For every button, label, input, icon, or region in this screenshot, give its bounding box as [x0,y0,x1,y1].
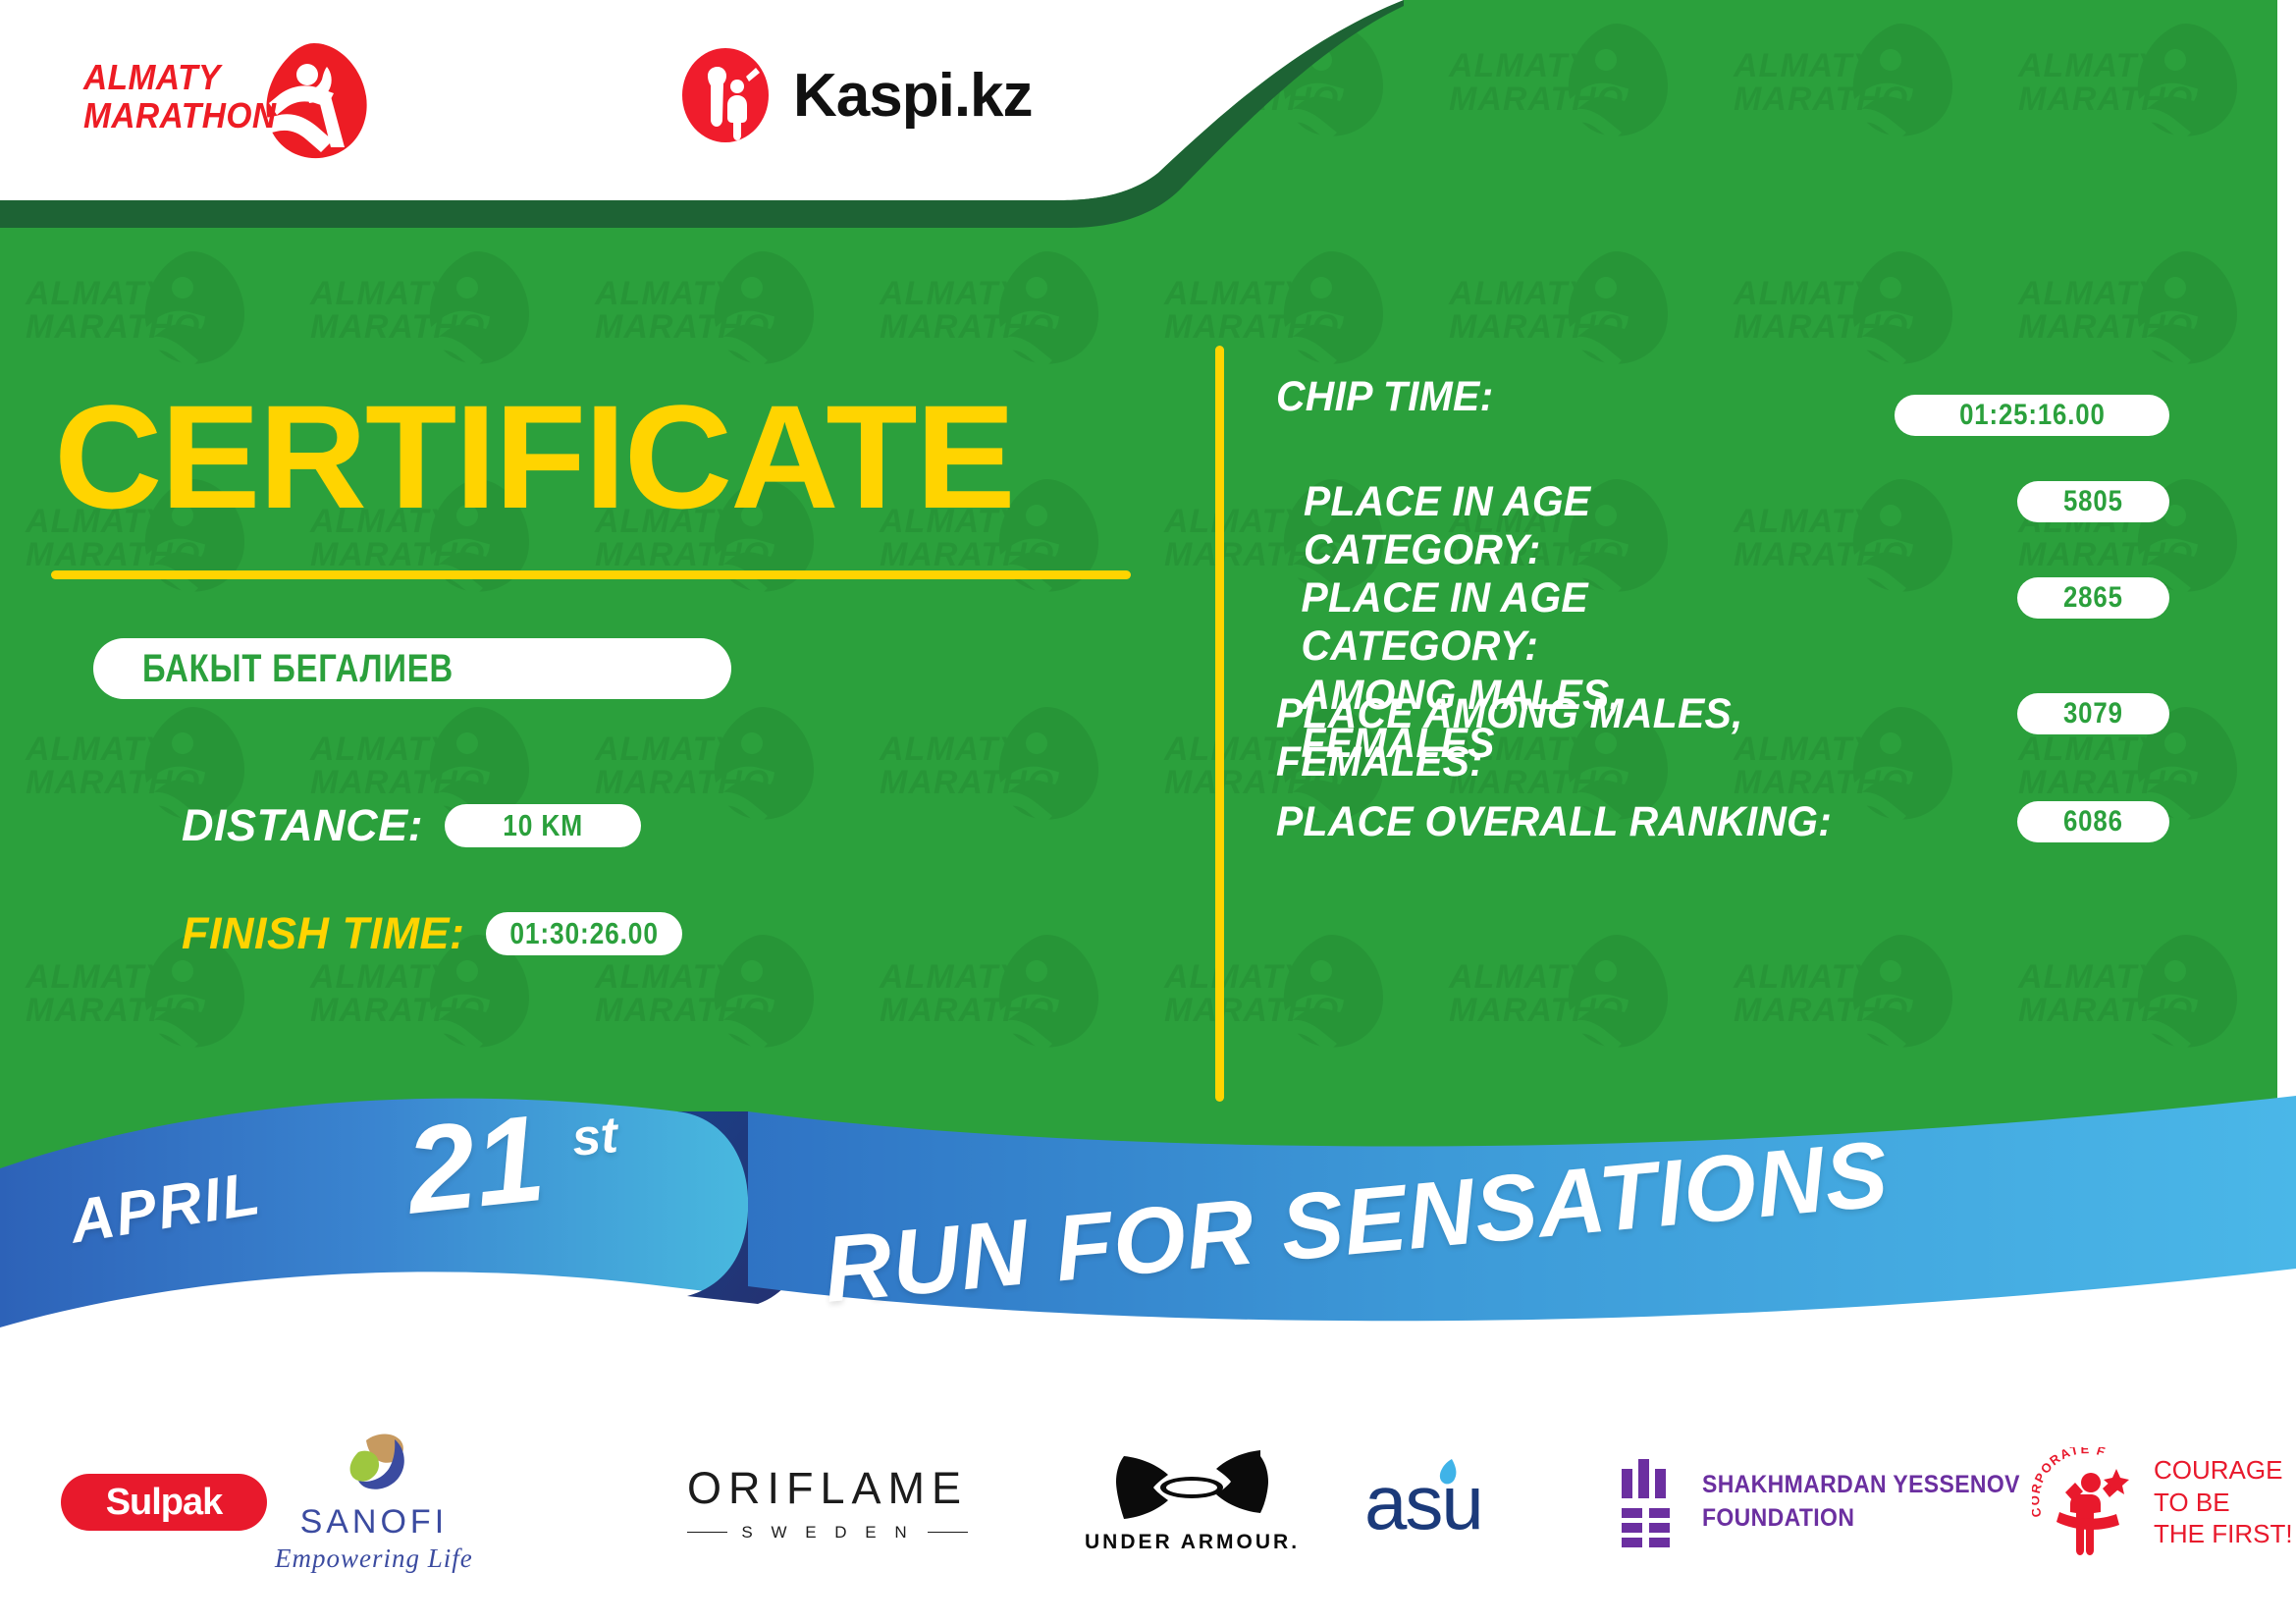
place-overall-ranking-label: PLACE OVERALL RANKING: [1276,798,1832,846]
corporate-fund-tagline: COURAGE TO BE THE FIRST! [2154,1454,2293,1550]
chip-time-label: CHIP TIME: [1276,373,1493,421]
under-armour-icon [1116,1450,1268,1525]
sanofi-wordmark: SANOFI [300,1503,449,1542]
vertical-divider [1215,346,1224,1102]
corporate-fund-logo: CORPORATE FUND COURAGE TO BE THE FIRST! [2032,1447,2293,1557]
place-age-category-label: PLACE IN AGE CATEGORY: [1304,478,1826,575]
finish-time-row: FINISH TIME: 01:30:26.00 [182,908,682,959]
place-age-category-pill: 5805 [2017,481,2169,522]
place-age-category-among-pill: 2865 [2017,577,2169,619]
sanofi-tagline: Empowering Life [275,1543,473,1574]
place-overall-ranking-value: 6086 [2063,805,2123,839]
stats-panel: CHIP TIME: 01:25:16.00 PLACE IN AGE CATE… [1276,373,2277,1119]
yessenov-mark-icon [1620,1457,1677,1547]
sponsor-sulpak: Sulpak [61,1404,267,1600]
sponsor-asu: asu [1364,1404,1482,1600]
oriflame-rule-left [687,1532,727,1533]
event-ribbon: APRIL 21 st RUN FOR SENSATIONS [0,1051,2296,1365]
sponsor-sanofi: SANOFI Empowering Life [275,1404,473,1600]
place-age-category-value: 5805 [2063,485,2123,518]
distance-value: 10 KM [503,808,583,843]
finish-time-pill: 01:30:26.00 [486,912,682,955]
sponsor-under-armour: UNDER ARMOUR. [1085,1404,1300,1600]
oriflame-rule-right [928,1532,968,1533]
green-panel: ALMATY MARATHON [0,0,2277,1227]
participant-name-value: БАКЫТ БЕГАЛИЕВ [142,647,454,691]
ribbon-day: 21 [400,1088,551,1242]
asu-logo: asu [1364,1464,1482,1541]
title-underline [51,570,1131,579]
finish-time-label: FINISH TIME: [182,908,464,959]
finish-time-value: 01:30:26.00 [510,916,659,951]
sponsor-yessenov-foundation: SHAKHMARDAN YESSENOV FOUNDATION [1620,1404,2048,1600]
certificate-page: ALMATY MARATHON [0,0,2296,1624]
ribbon-ordinal-suffix: st [569,1106,619,1168]
distance-pill: 10 KM [445,804,641,847]
asu-drop-icon [1435,1458,1459,1488]
sulpak-logo: Sulpak [61,1474,267,1531]
under-armour-logo: UNDER ARMOUR. [1085,1450,1300,1554]
kaspi-logo: Kaspi.kz [677,47,1033,143]
place-among-males-females-value: 3079 [2063,697,2123,731]
kaspi-wordmark: Kaspi.kz [793,61,1033,131]
chip-time-value: 01:25:16.00 [1959,399,2106,432]
header-logos: ALMATY MARATHON Kaspi.kz [0,0,1404,196]
oriflame-logo: ORIFLAME S W E D E N [687,1463,968,1543]
sponsor-corporate-fund: CORPORATE FUND COURAGE TO BE THE FIRST! [2032,1404,2293,1600]
oriflame-sweden-line: S W E D E N [687,1523,968,1543]
place-among-males-females-pill: 3079 [2017,693,2169,734]
sanofi-logo: SANOFI Empowering Life [275,1431,473,1574]
sponsor-oriflame: ORIFLAME S W E D E N [687,1404,968,1600]
place-among-males-females-label: PLACE AMONG MALES, FEMALES: [1276,690,1743,787]
corporate-fund-icon: CORPORATE FUND [2032,1447,2142,1557]
yessenov-foundation-logo: SHAKHMARDAN YESSENOV FOUNDATION [1620,1457,2048,1547]
almaty-marathon-wordmark: ALMATY MARATHON [83,59,277,135]
sulpak-wordmark: Sulpak [106,1482,223,1524]
sponsor-bar: Sulpak SANOFI Empowering Life ORIFLAME S… [0,1404,2296,1610]
participant-name-field: БАКЫТ БЕГАЛИЕВ [93,638,731,699]
yessenov-foundation-wordmark: SHAKHMARDAN YESSENOV FOUNDATION [1702,1469,2020,1536]
place-overall-ranking-pill: 6086 [2017,801,2169,842]
sanofi-icon [333,1431,415,1499]
under-armour-wordmark: UNDER ARMOUR. [1085,1531,1300,1554]
distance-label: DISTANCE: [182,800,423,851]
chip-time-pill: 01:25:16.00 [1895,395,2169,436]
page-title: CERTIFICATE [54,383,1014,530]
almaty-marathon-logo: ALMATY MARATHON [83,37,388,160]
asu-wordmark: asu [1364,1459,1482,1545]
oriflame-wordmark: ORIFLAME [687,1463,968,1514]
distance-row: DISTANCE: 10 KM [182,800,641,851]
place-age-category-among-value: 2865 [2063,581,2123,615]
oriflame-sweden-text: S W E D E N [741,1523,913,1543]
kaspi-icon [677,47,774,143]
